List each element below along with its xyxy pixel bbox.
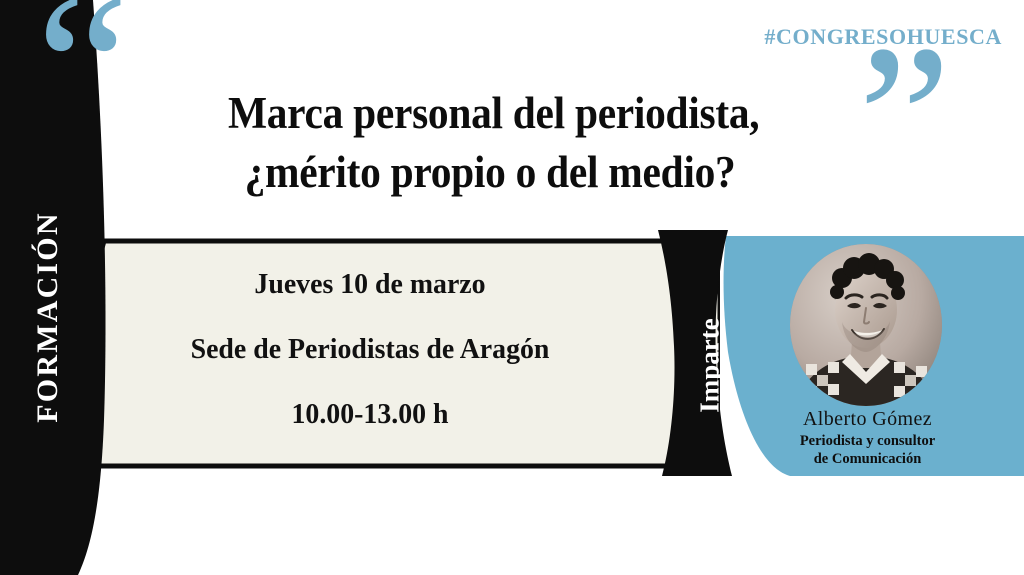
event-details: Jueves 10 de marzo Sede de Periodistas d… — [100, 268, 640, 431]
quote-open-icon: “ — [36, 0, 129, 172]
event-date: Jueves 10 de marzo — [111, 268, 629, 301]
avatar — [790, 244, 942, 406]
speaker-section-wedge — [628, 228, 748, 478]
speaker-role-line-1: Periodista y consultor — [760, 433, 975, 451]
event-time: 10.00-13.00 h — [111, 398, 629, 431]
title-line-1: Marca personal del periodista, — [150, 84, 831, 143]
title-line-2: ¿mérito propio o del medio? — [150, 143, 831, 202]
vertical-section-label-formacion: FORMACIÓN — [31, 202, 65, 432]
speaker-role-line-2: de Comunicación — [760, 451, 975, 469]
page-title: Marca personal del periodista, ¿mérito p… — [120, 84, 860, 201]
vertical-section-label-imparte: Imparte — [695, 286, 726, 446]
event-hashtag: #CONGRESOHUESCA — [764, 24, 1002, 50]
speaker-info: Alberto Gómez Periodista y consultor de … — [760, 408, 975, 469]
footer: Organiza Patrocinan ASOCIACIÓN DE PERIOD… — [0, 479, 1024, 575]
poster-canvas: FORMACIÓN #CONGRESOHUESCA “ ” Marca pers… — [0, 0, 1024, 575]
speaker-name: Alberto Gómez — [760, 408, 975, 431]
event-venue: Sede de Periodistas de Aragón — [111, 333, 629, 366]
